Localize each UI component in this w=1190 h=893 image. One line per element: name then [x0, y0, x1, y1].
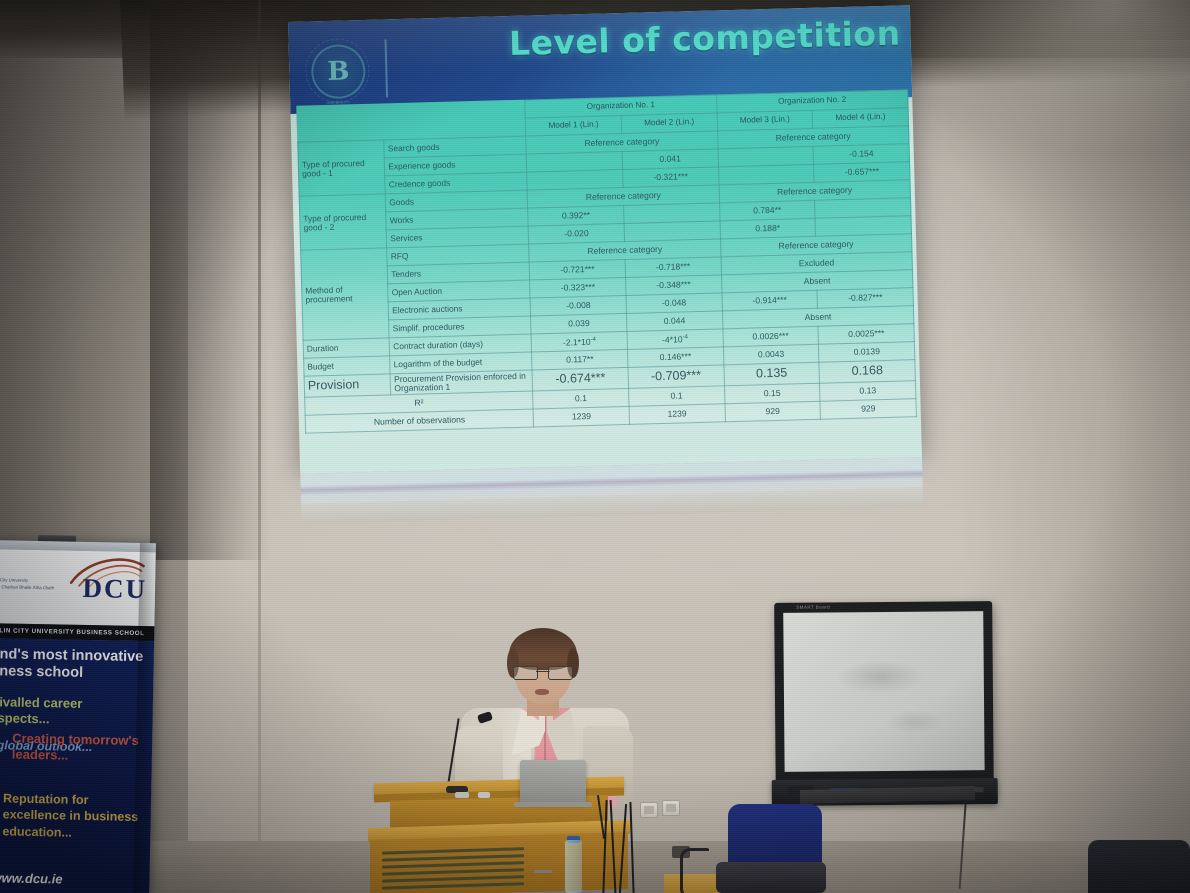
board-brand-label: SMART Board [796, 604, 830, 609]
presentation-slide: B UNIVERSITY Level of competition Organi… [288, 5, 922, 474]
table-body: Type of procured good - 1Search goodsRef… [298, 126, 917, 433]
table-cell-value: -0.709*** [628, 365, 724, 389]
row-group-label: Type of procured good - 1 [298, 140, 386, 196]
water-bottle [565, 840, 582, 893]
table-cell-value: 929 [725, 401, 821, 422]
wall-socket-1[interactable] [640, 802, 658, 818]
mouth [535, 689, 549, 695]
corner-shadow [150, 0, 270, 560]
board-smudge [836, 660, 926, 695]
banner-logo-area: Dublin City University Ollscoil Chathair… [0, 549, 156, 626]
banner-school-strip-text: DUBLIN CITY UNIVERSITY BUSINESS SCHOOL [0, 627, 145, 637]
row-group-label: Duration [303, 338, 390, 358]
wall-socket-2[interactable] [662, 800, 680, 816]
laptop-base [514, 802, 592, 807]
banner-body: Ireland's most innovative business schoo… [0, 638, 154, 893]
table-cell-value: 0.135 [724, 362, 820, 386]
banner-tagline-green: Unrivalled career prospects... [0, 694, 153, 729]
presenter-remote-2[interactable] [478, 792, 490, 798]
lectern [368, 780, 630, 893]
row-group-label: Type of procured good - 2 [299, 194, 387, 250]
dark-chair[interactable] [1088, 840, 1190, 893]
board-surface [783, 611, 984, 772]
lectern-handle[interactable] [534, 870, 552, 873]
presenter-remote[interactable] [455, 792, 469, 798]
laptop[interactable] [520, 760, 586, 804]
results-table: Organization No. 1 Organization No. 2 Mo… [296, 89, 917, 433]
lectern-body [370, 832, 628, 893]
wall-corner-edge [258, 0, 261, 893]
board-smudge-2 [884, 709, 944, 734]
seal-letter: B [327, 56, 350, 87]
dcu-tiny-text: Dublin City University Ollscoil Chathair… [0, 577, 54, 592]
banner-tagline-gold: Reputation for excellence in business ed… [2, 790, 151, 842]
chair-armrest [680, 848, 709, 893]
ceiling-light-glow [880, 0, 1190, 150]
glasses-lens-right [548, 666, 573, 680]
banner-url: www.dcu.ie [0, 870, 63, 886]
table-cell-value: 929 [820, 399, 916, 420]
dcu-rollup-banner: Dublin City University Ollscoil Chathair… [0, 540, 156, 893]
smart-board: SMART Board [774, 601, 994, 798]
presentation-room-photo: B UNIVERSITY Level of competition Organi… [0, 0, 1190, 893]
table-cell-value: 0.168 [819, 360, 915, 384]
right-wall-shading [960, 40, 1190, 893]
dcu-wordmark: DCU [82, 573, 147, 605]
glasses-lens-left [513, 666, 538, 680]
table-cell-value: 1239 [533, 406, 629, 427]
banner-headline: Ireland's most innovative business schoo… [0, 646, 154, 684]
projection-screen: B UNIVERSITY Level of competition Organi… [288, 5, 924, 542]
table-cell-value: 1239 [629, 404, 725, 425]
row-group-label: Provision [304, 374, 391, 397]
dcu-tiny-line2: Ollscoil Chathair Bhaile Átha Cliath [0, 584, 54, 592]
banner-tagline-red: Creating tomorrow's leaders... [12, 731, 153, 765]
table-cell-value: -0.674*** [532, 367, 628, 391]
glasses-icon [513, 666, 573, 678]
row-group-label: Budget [304, 356, 391, 376]
cable-bundle [600, 800, 640, 893]
bag-on-chair [716, 862, 826, 893]
row-group-label: Method of procurement [301, 248, 390, 340]
